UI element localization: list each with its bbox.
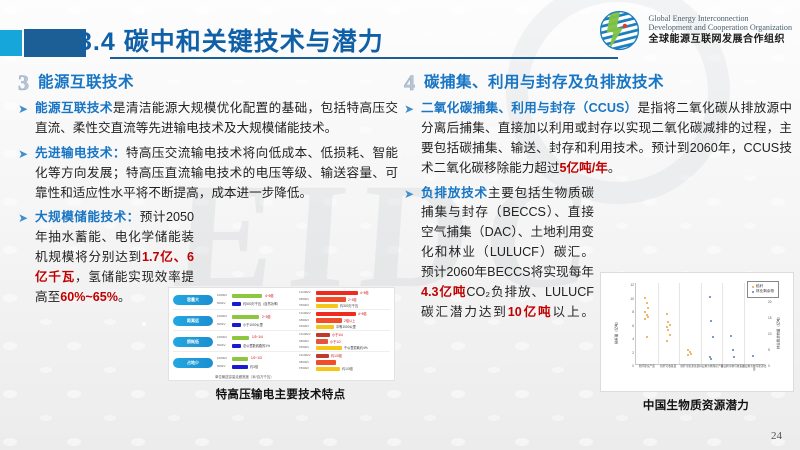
slide-canvas: EIDC 3.4 碳中和关键技术与潜力 (0, 0, 800, 450)
infographic-row-chip: 损耗低 (173, 337, 213, 347)
infographic-row-dc: ±1100kV 约1/3倍 ±800kV ±500kV 约1/3倍 (299, 353, 390, 372)
chart-data-point (732, 349, 734, 351)
ig-voltage-label: 1000kV (217, 314, 227, 318)
ig-voltage-label: ±1100kV (299, 332, 311, 336)
ig-voltage-label: ±800kV (299, 318, 309, 322)
left-bullet-3-body-3: 。 (118, 290, 131, 304)
chart-gridline-vertical (658, 283, 659, 364)
chart-data-point (644, 311, 646, 313)
ig-note: 总公里数线路的1% (243, 343, 270, 348)
chart-data-point (647, 307, 649, 309)
infographic-row-chip: 距离远 (173, 316, 213, 326)
left-bullet-1-lead: 能源互联技术 (35, 101, 113, 115)
chart-y2-tick-label: 15 (768, 316, 772, 320)
ig-note: 约1/3倍 (342, 366, 353, 371)
chart-data-point (669, 324, 671, 326)
uhv-figure-caption: 特高压输电主要技术特点 (168, 386, 393, 402)
chart-y-tick-label: 4 (632, 337, 634, 341)
infographic-row-ac: 1000kV 4~5倍 500kV 约500万千瓦（自然功率） (217, 290, 295, 309)
ig-voltage-label: 500kV (217, 364, 226, 368)
header-accent-square-cyan (0, 30, 22, 56)
ig-bar (232, 294, 262, 299)
left-bullet-1-text: 能源互联技术是清洁能源大规模优化配置的基础，包括特高压交直流、柔性交直流等先进输… (35, 99, 398, 139)
ig-bar (316, 312, 356, 317)
left-bullet-2: ➤ 先进输电技术：特高压交流输电技术将向低成本、低损耗、智能化等方向发展；特高压… (18, 144, 398, 204)
ig-bar (316, 367, 340, 372)
chart-plot-area: 秸秆理论产量秸秆可收集量秸秆可能源化量林业剩余物理论产量林业剩余物可收集量林业剩… (635, 283, 765, 365)
infographic-row: 容量大 1000kV 4~5倍 500kV 约500万千瓦（自然功率） ±110… (173, 290, 390, 309)
ig-note: 4~5倍 (360, 290, 369, 295)
infographic-row-chip: 容量大 (173, 295, 213, 305)
infographic-footer-note: 单位输送容量走廊宽度（米/百万千瓦） (215, 374, 274, 379)
chart-data-point (646, 302, 648, 304)
chart-data-point (666, 313, 668, 315)
ig-voltage-label: ±500kV (299, 324, 309, 328)
chart-data-point (646, 336, 648, 338)
ig-bar (232, 323, 241, 328)
ig-bar (316, 291, 358, 296)
ig-bar (316, 360, 336, 365)
infographic-row-ac: 1000kV 2~3倍 500kV 小于1000公里 (217, 311, 295, 330)
chart-gridline-vertical (679, 283, 680, 364)
right-bullet-2-highlight-2: 10亿吨 (508, 305, 553, 319)
chart-y-tick-label: 8 (632, 310, 634, 314)
chart-data-point (730, 335, 732, 337)
ig-bar (232, 315, 259, 320)
infographic-row: 损耗低 1000kV 1/3~1/4 500kV 总公里数线路的1% ±1100… (173, 332, 390, 351)
ig-voltage-label: 1000kV (217, 335, 227, 339)
chart-y-tick-label: 0 (632, 364, 634, 368)
left-content-column: 3 能源互联技术 ➤ 能源互联技术是清洁能源大规模优化配置的基础，包括特高压交直… (18, 72, 398, 313)
infographic-row-ac: 1000kV 1/3~1/4 500kV 总公里数线路的1% (217, 332, 295, 351)
ig-bar (316, 297, 346, 302)
chart-data-point (644, 297, 646, 299)
ig-voltage-label: ±500kV (299, 345, 309, 349)
globe-logo-icon (597, 8, 642, 53)
page-title: 3.4 碳中和关键技术与潜力 (78, 22, 384, 58)
bullet-arrow-icon: ➤ (18, 144, 29, 204)
organization-logo: Global Energy Interconnection Developmen… (597, 6, 792, 54)
infographic-row-chip: 占地少 (173, 358, 213, 368)
ig-note: 4~5倍 (358, 311, 367, 316)
chart-y2-tick-label: 0 (768, 364, 770, 368)
chart-data-point (752, 355, 754, 357)
chart-y-axis-title: 秸秆量（亿吨） (613, 320, 618, 344)
ig-note: 小于1/2 (330, 339, 341, 344)
legend-label-forest: 林业剩余物 (756, 289, 774, 294)
page-number: 24 (771, 430, 782, 442)
ig-note: 中等1000公里 (336, 324, 356, 329)
left-bullet-3-lead: 大规模储能技术： (35, 210, 140, 224)
ig-note: 1/2~1/3 (251, 356, 262, 360)
ig-voltage-label: ±1100kV (299, 311, 311, 315)
right-section-heading: 4 碳捕集、利用与封存及负排放技术 (404, 72, 792, 94)
chart-y-tick-label: 6 (632, 324, 634, 328)
right-bullet-1: ➤ 二氧化碳捕集、利用与封存（CCUS）是指将二氧化碳从排放源中分离后捕集、直接… (404, 99, 792, 179)
right-bullet-1-text: 二氧化碳捕集、利用与封存（CCUS）是指将二氧化碳从排放源中分离后捕集、直接加以… (421, 99, 792, 179)
ig-bar (316, 346, 342, 351)
chart-y-tick-label: 12 (630, 283, 634, 287)
ig-voltage-label: 1000kV (217, 293, 227, 297)
chart-gridline-vertical (701, 283, 702, 364)
right-bullet-2-text: 负排放技术主要包括生物质碳捕集与封存（BECCS）、直接空气捕集（DAC）、土地… (421, 184, 594, 323)
infographic-row: 距离远 1000kV 2~3倍 500kV 小于1000公里 ±1100kV 4… (173, 311, 390, 330)
header-accent-square-blue (24, 29, 86, 57)
right-bullet-1-highlight-1: 5亿吨/年 (560, 161, 608, 175)
chart-y2-axis-title: 林业剩余物量（亿吨） (776, 315, 781, 349)
ig-bar (316, 325, 334, 330)
right-bullet-1-lead: 二氧化碳捕集、利用与封存（CCUS） (421, 101, 638, 115)
chart-data-point (647, 316, 649, 318)
ig-note: 约500万千瓦（自然功率） (243, 301, 280, 306)
chart-data-point (710, 358, 712, 360)
ig-note: 约3倍 (250, 364, 258, 369)
legend-item-forest: 林业剩余物 (752, 289, 774, 294)
right-bullet-1-body-2: 。 (608, 161, 621, 175)
infographic-divider (173, 351, 390, 352)
ig-voltage-label: 500kV (217, 343, 226, 347)
left-bullet-2-text: 先进输电技术：特高压交流输电技术将向低成本、低损耗、智能化等方向发展；特高压直流… (35, 144, 398, 204)
ig-bar (232, 302, 241, 307)
bullet-arrow-icon: ➤ (404, 184, 415, 323)
infographic-row-ac: 1000kV 1/2~1/3 500kV 约3倍 (217, 353, 295, 372)
chart-y2-tick-label: 20 (768, 300, 772, 304)
ig-bar (232, 336, 249, 341)
slide-header: 3.4 碳中和关键技术与潜力 (0, 0, 800, 62)
chart-data-point (690, 353, 692, 355)
chart-gridline-vertical (744, 283, 745, 364)
ig-note: 2~3倍 (348, 297, 357, 302)
right-bullet-2-lead: 负排放技术 (421, 186, 488, 200)
infographic-row-dc: ±1100kV 小于1/4 ±800kV 小于1/2 ±500kV 千公里损耗约… (299, 332, 390, 351)
ig-note: 千公里损耗约4% (344, 345, 368, 350)
chart-data-point (733, 356, 735, 358)
infographic-row-dc: ±1100kV 4~5倍 ±800kV 2~3倍 ±500kV 约300万千瓦 (299, 290, 390, 309)
ig-bar (316, 354, 329, 359)
bullet-arrow-icon: ➤ (18, 208, 29, 307)
ig-bar (232, 365, 248, 370)
chart-y-tick-label: 10 (630, 297, 634, 301)
logo-chinese-name: 全球能源互联网发展合作组织 (649, 34, 792, 45)
left-bullet-3-highlight-2: 60%~65% (60, 290, 118, 304)
header-underline (110, 57, 618, 59)
ig-note: 约300万千瓦 (340, 303, 358, 308)
right-bullet-2: ➤ 负排放技术主要包括生物质碳捕集与封存（BECCS）、直接空气捕集（DAC）、… (404, 184, 594, 323)
chart-y2-tick-label: 5 (768, 348, 770, 352)
ig-voltage-label: 1000kV (217, 356, 227, 360)
bullet-arrow-icon: ➤ (18, 99, 29, 139)
chart-y2-tick-label: 10 (768, 332, 772, 336)
ig-bar (232, 344, 241, 349)
ig-bar (232, 357, 248, 362)
ig-note: 2~3倍 (262, 314, 271, 319)
ig-voltage-label: ±500kV (299, 303, 309, 307)
chart-data-point (644, 318, 646, 320)
uhv-figure-wrapper: 容量大 1000kV 4~5倍 500kV 约500万千瓦（自然功率） ±110… (168, 287, 393, 402)
chart-y-tick-label: 2 (632, 351, 634, 355)
ig-voltage-label: ±800kV (299, 339, 309, 343)
chart-data-point (712, 336, 714, 338)
chart-x-tick-label: 林业剩余物可能源化量 (741, 366, 767, 372)
right-bullet-2-highlight-1: 4.3亿吨 (421, 285, 466, 299)
right-bullet-2-body-3: 以上。 (553, 305, 595, 319)
logo-english-line-2: Development and Cooperation Organization (649, 23, 792, 32)
ig-bar (316, 333, 330, 338)
ig-voltage-label: 500kV (217, 322, 226, 326)
china-biomass-resource-potential-chart: 秸秆量（亿吨） 林业剩余物量（亿吨） 秸秆理论产量秸秆可收集量秸秆可能源化量林业… (600, 272, 794, 392)
ig-note: 1/3~1/4 (252, 335, 263, 339)
ig-voltage-label: 500kV (217, 301, 226, 305)
ig-note: 小于1000公里 (243, 322, 263, 327)
left-section-heading: 3 能源互联技术 (18, 72, 398, 94)
ig-bar (316, 339, 328, 344)
ig-bar (316, 304, 338, 309)
chart-data-point (687, 354, 689, 356)
chart-data-point (669, 334, 671, 336)
ig-voltage-label: ±1100kV (299, 290, 311, 294)
ig-voltage-label: ±500kV (299, 366, 309, 370)
bullet-arrow-icon: ➤ (404, 99, 415, 179)
ig-note: 2倍以上 (344, 318, 355, 323)
chart-gridline-vertical (722, 283, 723, 364)
left-bullet-1: ➤ 能源互联技术是清洁能源大规模优化配置的基础，包括特高压交直流、柔性交直流等先… (18, 99, 398, 139)
logo-english-line-1: Global Energy Interconnection (649, 14, 792, 23)
left-bullet-2-lead: 先进输电技术： (35, 146, 126, 160)
chart-legend: 秸秆 林业剩余物 (747, 281, 779, 298)
biomass-figure-caption: 中国生物质资源潜力 (600, 397, 792, 413)
biomass-figure-wrapper: 秸秆量（亿吨） 林业剩余物量（亿吨） 秸秆理论产量秸秆可收集量秸秆可能源化量林业… (600, 272, 792, 413)
ig-voltage-label: ±1100kV (299, 353, 311, 357)
ig-voltage-label: ±800kV (299, 297, 309, 301)
ig-note: 约1/3倍 (331, 353, 342, 358)
chart-data-point (710, 320, 712, 322)
uhv-transmission-features-infographic: 容量大 1000kV 4~5倍 500kV 约500万千瓦（自然功率） ±110… (168, 287, 395, 381)
infographic-row: 占地少 1000kV 1/2~1/3 500kV 约3倍 ±1100kV 约1/… (173, 353, 390, 372)
infographic-row-dc: ±1100kV 4~5倍 ±800kV 2倍以上 ±500kV 中等1000公里 (299, 311, 390, 330)
left-section-number: 3 (18, 72, 29, 94)
ig-note: 4~5倍 (265, 293, 274, 298)
infographic-divider (173, 309, 390, 310)
right-section-title: 碳捕集、利用与封存及负排放技术 (424, 72, 664, 91)
ig-bar (316, 318, 342, 323)
ig-note: 小于1/4 (332, 332, 343, 337)
ig-voltage-label: ±800kV (299, 360, 309, 364)
infographic-divider (173, 330, 390, 331)
chart-data-point (709, 296, 711, 298)
right-section-number: 4 (404, 72, 415, 94)
chart-data-point (666, 340, 668, 342)
chart-data-point (667, 329, 669, 331)
left-section-title: 能源互联技术 (38, 72, 134, 91)
chart-data-point (666, 326, 668, 328)
